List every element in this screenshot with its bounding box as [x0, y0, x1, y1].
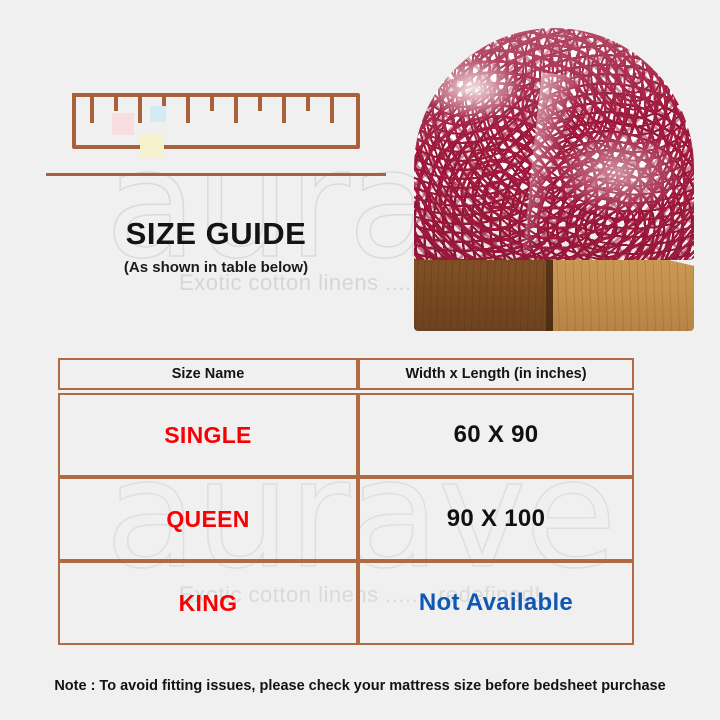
ruler-tick	[234, 93, 238, 123]
product-photo-inner	[414, 28, 694, 331]
size-value-queen: 90 X 100	[447, 505, 545, 533]
size-name-queen: QUEEN	[166, 506, 249, 533]
table-row: SINGLE 60 X 90	[58, 393, 634, 477]
yellow-square	[140, 133, 164, 157]
ruler-tick	[114, 93, 118, 111]
ruler-tick	[90, 93, 94, 123]
size-guide-table: Size Name Width x Length (in inches) SIN…	[58, 358, 634, 645]
table-cell-dimensions: 90 X 100	[358, 477, 634, 561]
ruler-tick	[72, 93, 76, 111]
size-guide-page: aurave ® Exotic cotton linens ....... re…	[0, 0, 720, 720]
size-name-king: KING	[179, 590, 238, 617]
size-value-king: Not Available	[419, 589, 573, 617]
ruler-tick	[306, 93, 310, 111]
table-cell-size-name: SINGLE	[58, 393, 358, 477]
product-photo	[414, 28, 694, 331]
table-header-dimensions-label: Width x Length (in inches)	[405, 366, 586, 382]
table-row: QUEEN 90 X 100	[58, 477, 634, 561]
size-name-single: SINGLE	[164, 422, 251, 449]
ruler-tick	[186, 93, 190, 123]
ruler-tick	[138, 93, 142, 123]
size-value-single: 60 X 90	[454, 421, 539, 449]
table-header-row: Size Name Width x Length (in inches)	[58, 358, 634, 390]
header-divider	[46, 173, 386, 176]
ruler-tick	[282, 93, 286, 123]
table-header-dimensions-main: Width x Length	[405, 366, 514, 382]
table-cell-size-name: QUEEN	[58, 477, 358, 561]
ruler-tick	[330, 93, 334, 123]
footer-note: Note : To avoid fitting issues, please c…	[0, 678, 720, 694]
blue-square	[150, 106, 166, 122]
table-cell-size-name: KING	[58, 561, 358, 645]
table-header-dimensions: Width x Length (in inches)	[358, 358, 634, 390]
page-title: SIZE GUIDE	[46, 216, 386, 252]
table-header-size-name: Size Name	[58, 358, 358, 390]
table-header-dimensions-unit: (in inches)	[514, 366, 587, 382]
table-cell-dimensions: Not Available	[358, 561, 634, 645]
page-subtitle: (As shown in table below)	[46, 259, 386, 276]
table-header-size-name-label: Size Name	[172, 366, 245, 382]
ruler-tick	[258, 93, 262, 111]
table-row: KING Not Available	[58, 561, 634, 645]
ruler-tick	[210, 93, 214, 111]
pink-square	[112, 113, 134, 135]
table-cell-dimensions: 60 X 90	[358, 393, 634, 477]
